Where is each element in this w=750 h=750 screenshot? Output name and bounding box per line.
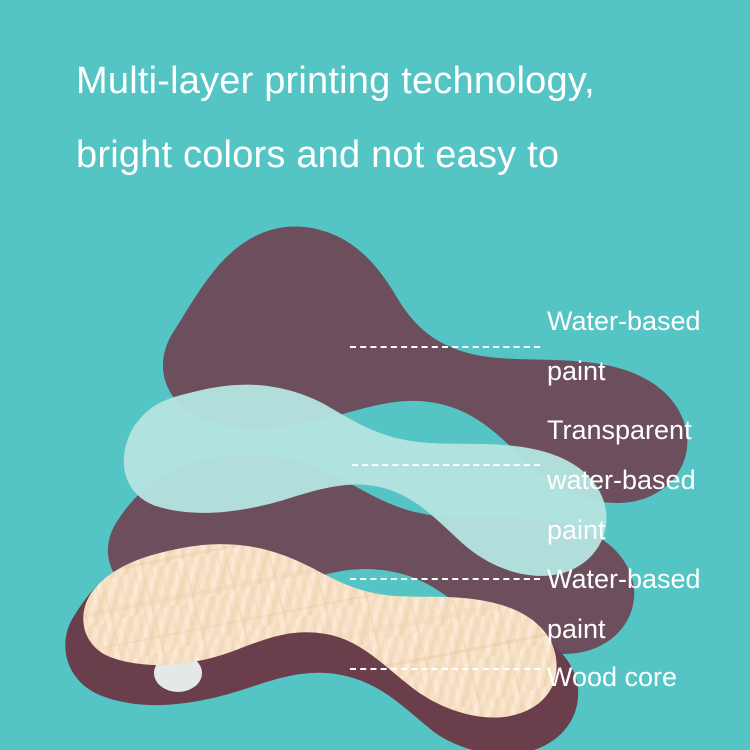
leader-line-2 bbox=[352, 464, 540, 466]
poster-canvas: Multi-layer printing technology, bright … bbox=[0, 0, 750, 750]
callout-water-based-paint-top: Water-based paint bbox=[547, 296, 701, 396]
callout-water-based-paint-base: Water-based paint bbox=[547, 554, 701, 654]
leader-line-4 bbox=[350, 668, 540, 670]
leader-line-1 bbox=[350, 346, 540, 348]
callout-transparent-paint: Transparent water-based paint bbox=[547, 405, 696, 555]
callout-wood-core: Wood core bbox=[547, 652, 677, 702]
leader-line-3 bbox=[350, 578, 540, 580]
